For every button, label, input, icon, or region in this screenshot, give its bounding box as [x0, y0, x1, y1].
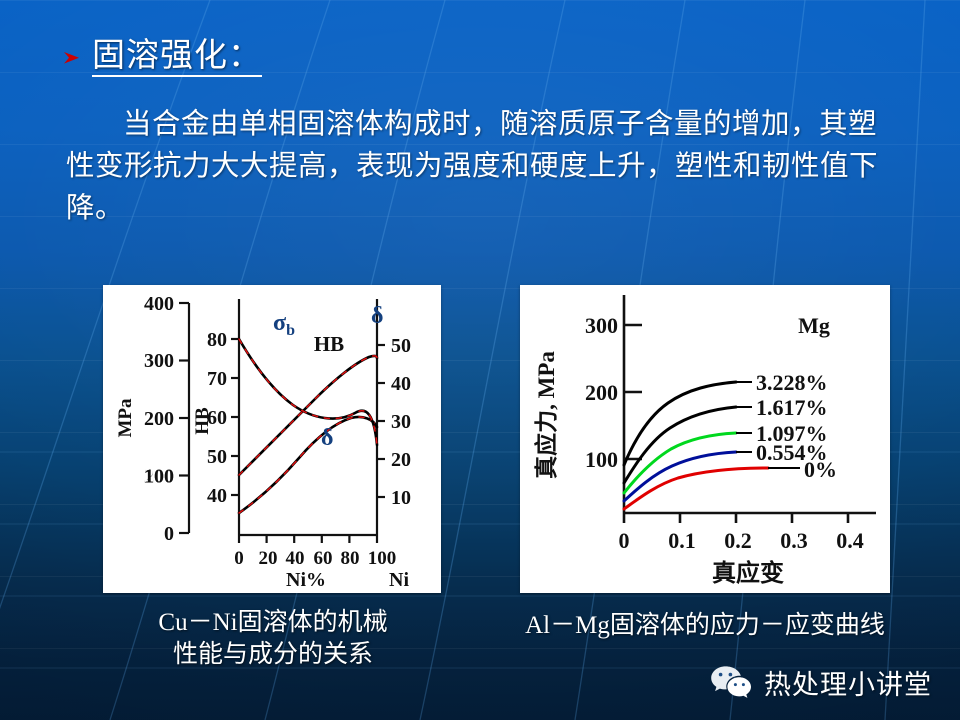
heading-text: 固溶强化： — [92, 38, 262, 77]
tick-mpa-100: 100 — [144, 466, 174, 488]
slide-canvas: 固溶强化： 当合金由单相固溶体构成时，随溶质原子含量的增加，其塑性变形抗力大大提… — [0, 0, 960, 720]
axis-label-hb: HB — [192, 407, 213, 435]
tick-x-0.2: 0.2 — [724, 528, 752, 553]
tick-mpa-400: 400 — [144, 293, 174, 315]
tick-hb-70: 70 — [207, 368, 227, 390]
tick-delta-10: 10 — [391, 487, 411, 509]
tick-x-80: 80 — [341, 548, 360, 569]
tick-hb-80: 80 — [207, 329, 227, 351]
tick-x-0.1: 0.1 — [668, 528, 696, 553]
slide-heading: 固溶强化： — [62, 38, 262, 77]
label-0-percent: 0% — [804, 457, 837, 482]
annotation-delta-curve: δ — [321, 425, 333, 451]
axis-label-true-strain: 真应变 — [712, 559, 784, 587]
tick-x-60: 60 — [314, 548, 333, 569]
chart-title-mg: Mg — [798, 313, 830, 338]
tick-x-20: 20 — [259, 548, 278, 569]
caption-cu-ni-line2: 性能与成分的关系 — [103, 639, 443, 671]
cu-ni-plot: 400 300 200 . 0 200 200 100 MPa — [103, 285, 441, 593]
axis-label-ni-percent: Ni% — [286, 569, 326, 591]
tick-hb-40: 40 — [207, 485, 227, 507]
annotation-hb: HB — [314, 332, 344, 356]
watermark: 热处理小讲堂 — [710, 663, 932, 702]
axis-label-ni: Ni — [389, 569, 409, 591]
tick-mpa-200-label: 200 — [144, 408, 174, 430]
tick-x-40: 40 — [286, 548, 305, 569]
tick-y-200: 200 — [585, 380, 618, 405]
caption-cu-ni-line1: Cu－Ni固溶体的机械 — [103, 607, 443, 639]
tick-delta-20: 20 — [391, 449, 411, 471]
wechat-icon — [710, 665, 752, 701]
tick-x-0.4: 0.4 — [836, 528, 864, 553]
annotation-delta-axis: δ — [371, 303, 383, 329]
tick-delta-40: 40 — [391, 373, 411, 395]
figure-cu-ni-chart: 400 300 200 . 0 200 200 100 MPa — [103, 285, 441, 593]
tick-x-0.3: 0.3 — [780, 528, 808, 553]
tick-y-100: 100 — [585, 447, 618, 472]
tick-x-0: 0 — [234, 548, 244, 569]
caption-cu-ni: Cu－Ni固溶体的机械 性能与成分的关系 — [103, 607, 443, 671]
tick-x-0: 0 — [619, 528, 630, 553]
tick-mpa-0: 0 — [164, 523, 174, 545]
tick-mpa-300: 300 — [144, 350, 174, 372]
axis-label-true-stress: 真应力, MPa — [533, 351, 559, 479]
tick-x-100: 100 — [368, 548, 397, 569]
tick-y-300: 300 — [585, 313, 618, 338]
axis-label-mpa: MPa — [115, 398, 136, 438]
label-3-228: 3.228% — [756, 370, 828, 395]
tick-delta-50: 50 — [391, 335, 411, 357]
label-1-617: 1.617% — [756, 395, 828, 420]
tick-delta-30: 30 — [391, 411, 411, 433]
body-paragraph: 当合金由单相固溶体构成时，随溶质原子含量的增加，其塑性变形抗力大大提高，表现为强… — [66, 104, 904, 231]
figure-al-mg-chart: 300 200 100 真应力, MPa 0 0.1 0.2 0.3 0.4 真… — [520, 285, 890, 593]
arrow-right-icon — [62, 48, 82, 68]
tick-hb-50: 50 — [207, 446, 227, 468]
caption-al-mg: Al－Mg固溶体的应力－应变曲线 — [484, 610, 926, 642]
watermark-text: 热处理小讲堂 — [764, 663, 932, 702]
caption-al-mg-line1: Al－Mg固溶体的应力－应变曲线 — [484, 610, 926, 642]
al-mg-plot: 300 200 100 真应力, MPa 0 0.1 0.2 0.3 0.4 真… — [520, 285, 890, 593]
